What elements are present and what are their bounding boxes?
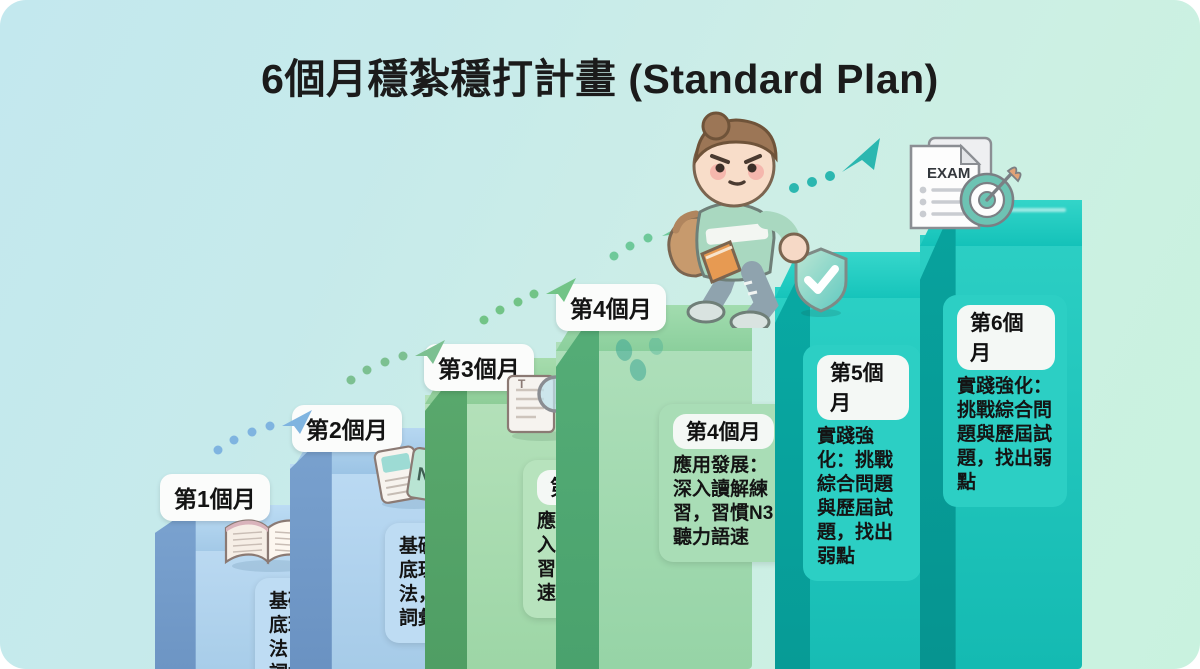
arrow-step1-to-step2 <box>212 388 332 473</box>
step-4-card-pill: 第4個月 <box>673 414 774 449</box>
step-4-side-face <box>556 305 599 669</box>
step-6-card-pill: 第6個月 <box>957 305 1055 370</box>
exam-label: EXAM <box>927 165 970 182</box>
arrow-step3-to-step4 <box>478 258 598 343</box>
step-6-description-card[interactable]: 第6個月 實踐強化：挑戰綜合問題與歷屆試題，找出弱點 <box>943 295 1067 507</box>
footprints-icon <box>608 338 684 391</box>
step-6-description-text: 實踐強化：挑戰綜合問題與歷屆試題，找出弱點 <box>957 375 1055 495</box>
step-5-description-card[interactable]: 第5個月 實踐強化：挑戰綜合問題與歷屆試題，找出弱點 <box>803 345 921 581</box>
exam-target-icon: EXAM <box>895 128 1025 245</box>
step-1-side-face <box>155 505 196 669</box>
page-title: 6個月穩紮穩打計畫 (Standard Plan) <box>0 45 1200 105</box>
step-4-description-text: 應用發展：深入讀解練習，習慣N3聽力語速 <box>673 454 783 550</box>
step-5-description-text: 實踐強化：挑戰綜合問題與歷屆試題，找出弱點 <box>817 425 909 569</box>
student-character <box>640 108 820 333</box>
svg-text:T: T <box>518 377 526 391</box>
step-3-side-face <box>425 358 467 669</box>
arrow-step2-to-step3 <box>345 318 465 403</box>
infographic-canvas: 6個月穩紮穩打計畫 (Standard Plan) 第1個月 基礎建立：徹底理解… <box>0 0 1200 669</box>
step-1-month-label: 第1個月 <box>174 486 256 512</box>
step-5-card-pill: 第5個月 <box>817 355 909 420</box>
